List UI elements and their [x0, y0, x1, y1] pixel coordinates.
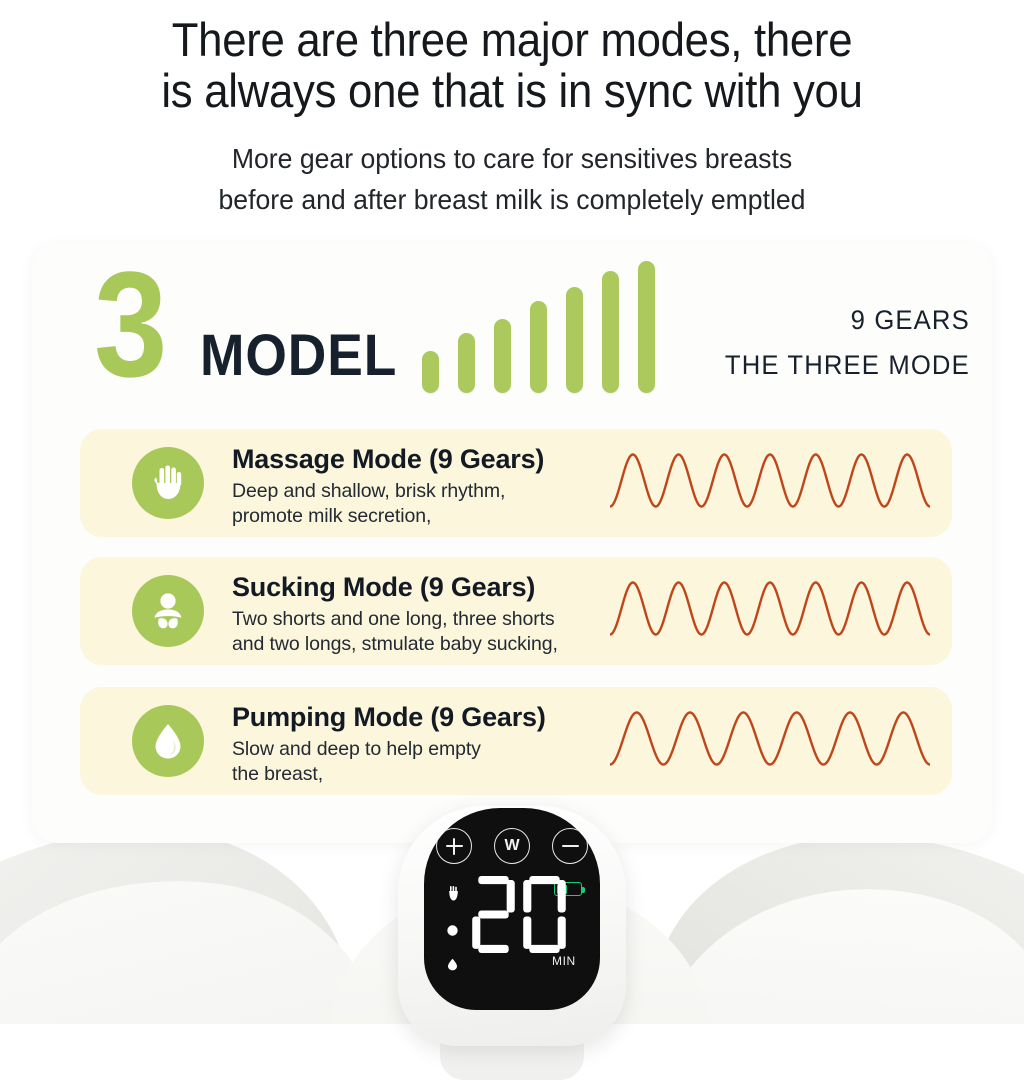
panel-header-row: 3 MODEL 9 GEARS THE THREE MODE: [32, 243, 992, 411]
modes-panel: 3 MODEL 9 GEARS THE THREE MODE Massage M: [32, 243, 992, 843]
subline-line-2: before and after breast milk is complete…: [219, 184, 806, 215]
mode-desc-line-1: Slow and deep to help empty: [232, 738, 481, 760]
background-blob-center: [330, 880, 710, 1024]
mode-title: Massage Mode (9 Gears): [232, 443, 672, 476]
mode-desc-line-2: and two longs, stmulate baby sucking,: [232, 633, 558, 655]
big-number-3: 3: [94, 249, 167, 399]
header: There are three major modes, there is al…: [0, 0, 1024, 220]
waveform-sucking: [610, 570, 930, 653]
mode-title: Sucking Mode (9 Gears): [232, 571, 672, 604]
mode-card-sucking[interactable]: Sucking Mode (9 Gears) Two shorts and on…: [80, 557, 952, 665]
mode-card-massage[interactable]: Massage Mode (9 Gears) Deep and shallow,…: [80, 429, 952, 537]
mode-description: Slow and deep to help empty the breast,: [232, 737, 672, 787]
mode-card-text: Sucking Mode (9 Gears) Two shorts and on…: [232, 571, 672, 657]
gear-bar: [566, 287, 583, 393]
page-title: There are three major modes, there is al…: [36, 0, 988, 116]
three-mode-label: THE THREE MODE: [725, 350, 970, 380]
gear-bar: [602, 271, 619, 393]
gear-bar: [458, 333, 475, 393]
subline-line-1: More gear options to care for sensitives…: [232, 143, 792, 174]
hand-icon: [132, 447, 204, 519]
page-subtitle: More gear options to care for sensitives…: [26, 138, 999, 220]
waveform-massage: [610, 442, 930, 525]
droplet-icon: [132, 705, 204, 777]
panel-right-labels: 9 GEARS THE THREE MODE: [712, 305, 970, 380]
headline-line-1: There are three major modes, there: [172, 13, 852, 66]
baby-icon: [132, 575, 204, 647]
gear-bar: [494, 319, 511, 393]
gears-label: 9 GEARS: [725, 305, 970, 335]
mode-card-text: Massage Mode (9 Gears) Deep and shallow,…: [232, 443, 672, 529]
gear-level-bars: [422, 263, 682, 393]
mode-desc-line-1: Two shorts and one long, three shorts: [232, 608, 555, 630]
mode-desc-line-2: promote milk secretion,: [232, 505, 431, 527]
gear-bar: [638, 261, 655, 393]
mode-card-text: Pumping Mode (9 Gears) Slow and deep to …: [232, 701, 672, 787]
model-word: MODEL: [200, 327, 397, 385]
mode-description: Two shorts and one long, three shorts an…: [232, 607, 672, 657]
mode-desc-line-1: Deep and shallow, brisk rhythm,: [232, 480, 505, 502]
headline-line-2: is always one that is in sync with you: [36, 65, 988, 116]
mode-description: Deep and shallow, brisk rhythm, promote …: [232, 479, 672, 529]
waveform-pumping: [610, 700, 930, 783]
mode-title: Pumping Mode (9 Gears): [232, 701, 672, 734]
mode-desc-line-2: the breast,: [232, 763, 323, 785]
gear-bar: [422, 351, 439, 393]
gear-bar: [530, 301, 547, 393]
mode-card-pumping[interactable]: Pumping Mode (9 Gears) Slow and deep to …: [80, 687, 952, 795]
